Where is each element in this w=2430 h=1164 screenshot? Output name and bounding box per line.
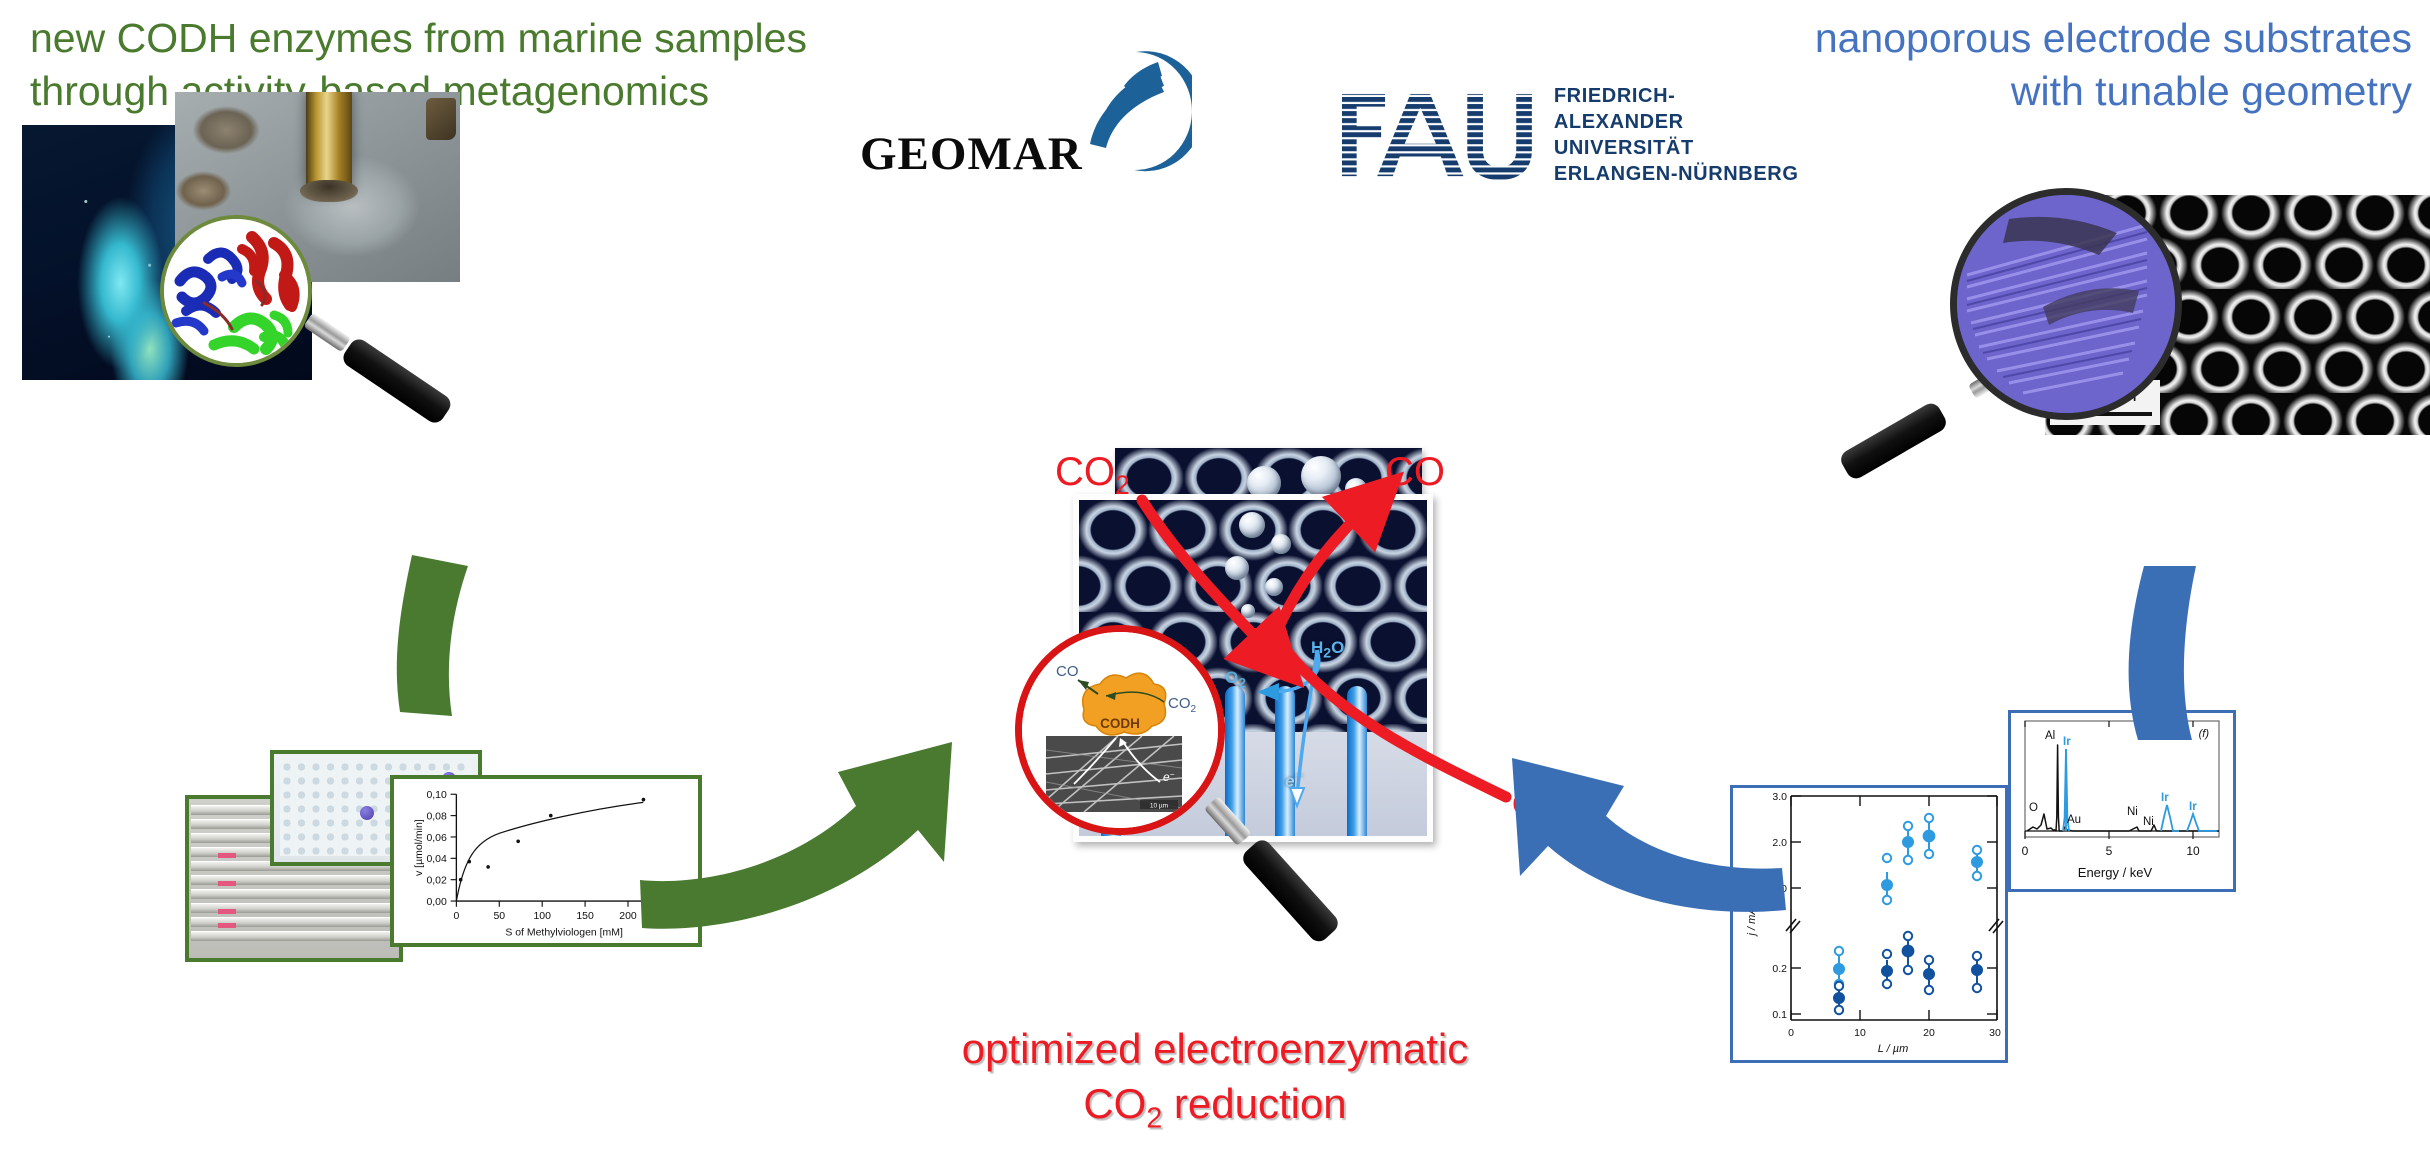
svg-text:0.2: 0.2 — [1772, 963, 1787, 975]
edx-label-Ir: Ir — [2189, 801, 2197, 813]
geomar-logo: GEOMAR — [860, 48, 1210, 183]
inset-label-co: CO — [1056, 663, 1079, 680]
graphical-abstract: new CODH enzymes from marine samples thr… — [0, 0, 2430, 1164]
svg-text:200: 200 — [619, 911, 637, 922]
fau-line3: ERLANGEN-NÜRNBERG — [1554, 161, 1800, 187]
magnifier-handle — [340, 336, 455, 427]
magnifier-handle — [1239, 836, 1342, 945]
mm-ylabel: v [µmol/min] — [414, 819, 425, 876]
magnifier-ferrule — [1204, 796, 1252, 846]
heading-co: CO — [1083, 1080, 1146, 1127]
magnifier-lens — [160, 215, 312, 367]
svg-text:0: 0 — [1788, 1027, 1794, 1039]
svg-text:0,02: 0,02 — [426, 876, 447, 887]
geomar-wordmark: GEOMAR — [860, 127, 1083, 181]
data-point-group — [1972, 846, 1982, 880]
heading-co-subscript: 2 — [1146, 1102, 1162, 1134]
svg-text:250: 250 — [662, 911, 680, 922]
data-point-group — [1903, 932, 1914, 974]
protein-magnifier — [160, 215, 490, 385]
data-point-group — [1834, 982, 1844, 1014]
svg-text:50: 50 — [493, 911, 505, 922]
codh-ribbon-structure — [164, 219, 312, 367]
magnifier-ferrule — [303, 312, 351, 352]
jl-xlabel: L / µm — [1878, 1043, 1909, 1055]
data-point-group — [1903, 822, 1913, 864]
svg-text:0: 0 — [2022, 844, 2029, 858]
svg-text:1.0: 1.0 — [1772, 883, 1787, 895]
edx-label-O: O — [2029, 802, 2038, 814]
heading-reduction: reduction — [1162, 1080, 1346, 1127]
svg-text:0: 0 — [453, 911, 459, 922]
edx-spectrum-chart: (f) O Al Ir Au Ni Ni Ir Ir — [2008, 710, 2236, 892]
svg-text:10: 10 — [2186, 844, 2200, 858]
globe-wave-icon — [1072, 48, 1192, 174]
fau-line2: UNIVERSITÄT — [1554, 135, 1800, 161]
mm-xlabel: S of Methylviologen [mM] — [505, 927, 623, 938]
svg-text:10: 10 — [1854, 1027, 1866, 1039]
edx-xlabel: Energy / keV — [2078, 865, 2153, 880]
heading-bottom-line2: CO2 reduction — [765, 1077, 1665, 1138]
edx-label-Au: Au — [2067, 814, 2081, 826]
green-band-arrow — [397, 555, 468, 716]
label-co2-reactant: CO2 — [1055, 452, 1130, 498]
svg-text:0.1: 0.1 — [1772, 1009, 1787, 1021]
label-co-product: CO — [1385, 452, 1445, 492]
jl-ylabel: j / mA cm⁻² — [1746, 880, 1758, 937]
svg-text:0,06: 0,06 — [426, 833, 447, 844]
svg-text:2.0: 2.0 — [1772, 837, 1787, 849]
magnifier-handle — [1838, 400, 1950, 482]
edx-label-Ni: Ni — [2143, 816, 2154, 828]
data-point-group — [1924, 956, 1934, 994]
codh-mechanism-diagram: 10 µm CODH CO CO2 — [1022, 632, 1225, 835]
edx-label-Al: Al — [2045, 730, 2055, 742]
enzyme-label: CODH — [1100, 716, 1140, 731]
magnifier-lens — [1950, 188, 2182, 420]
nanowire-magnifier — [1890, 188, 2220, 478]
positive-well — [360, 806, 374, 820]
svg-text:3.0: 3.0 — [1772, 791, 1787, 803]
push-corer-tube — [306, 92, 352, 188]
seafloor-rock — [426, 98, 456, 140]
svg-text:20: 20 — [1923, 1027, 1935, 1039]
heading-bottom: optimized electroenzymatic CO2 reduction — [765, 1022, 1665, 1137]
svg-text:100: 100 — [533, 911, 551, 922]
fau-line1: FRIEDRICH-ALEXANDER — [1554, 83, 1800, 135]
michaelis-menten-chart: 0,000,02 0,040,06 0,080,10 050100 150200… — [390, 775, 702, 947]
current-vs-thickness-chart: 3.02.01.0 0.20.1 010 2030 L / µm j / mA … — [1730, 785, 2008, 1063]
fau-wordmark-lines: FRIEDRICH-ALEXANDER UNIVERSITÄT ERLANGEN… — [1554, 83, 1800, 187]
fau-striped-mark — [1340, 89, 1536, 181]
nanowire-bundle-image — [1957, 195, 2182, 420]
codh-magnifier: 10 µm CODH CO CO2 — [1015, 625, 1365, 895]
edx-label-Ir: Ir — [2161, 792, 2169, 804]
inset-scalebar-label: 10 µm — [1150, 803, 1168, 810]
svg-text:150: 150 — [576, 911, 594, 922]
edx-label-Ir: Ir — [2063, 736, 2071, 748]
data-point-group — [1924, 814, 1935, 858]
data-point-group — [1972, 952, 1982, 992]
data-point-group — [1882, 950, 1892, 988]
heading-bottom-line1: optimized electroenzymatic — [765, 1022, 1665, 1077]
svg-text:0,10: 0,10 — [426, 790, 447, 801]
svg-text:0,08: 0,08 — [426, 811, 447, 822]
svg-text:5: 5 — [2106, 844, 2113, 858]
magnifier-lens: 10 µm CODH CO CO2 — [1015, 625, 1225, 835]
heading-right: nanoporous electrode substrates with tun… — [1815, 12, 2412, 119]
svg-text:30: 30 — [1989, 1027, 2001, 1039]
svg-text:0,04: 0,04 — [426, 854, 447, 865]
label-electron-reactant: e− — [1512, 782, 1546, 819]
edx-label-Ni: Ni — [2127, 806, 2138, 818]
svg-text:0,00: 0,00 — [426, 897, 447, 908]
fau-logo: FRIEDRICH-ALEXANDER UNIVERSITÄT ERLANGEN… — [1340, 80, 1800, 190]
edx-panel-label: (f) — [2199, 728, 2210, 740]
